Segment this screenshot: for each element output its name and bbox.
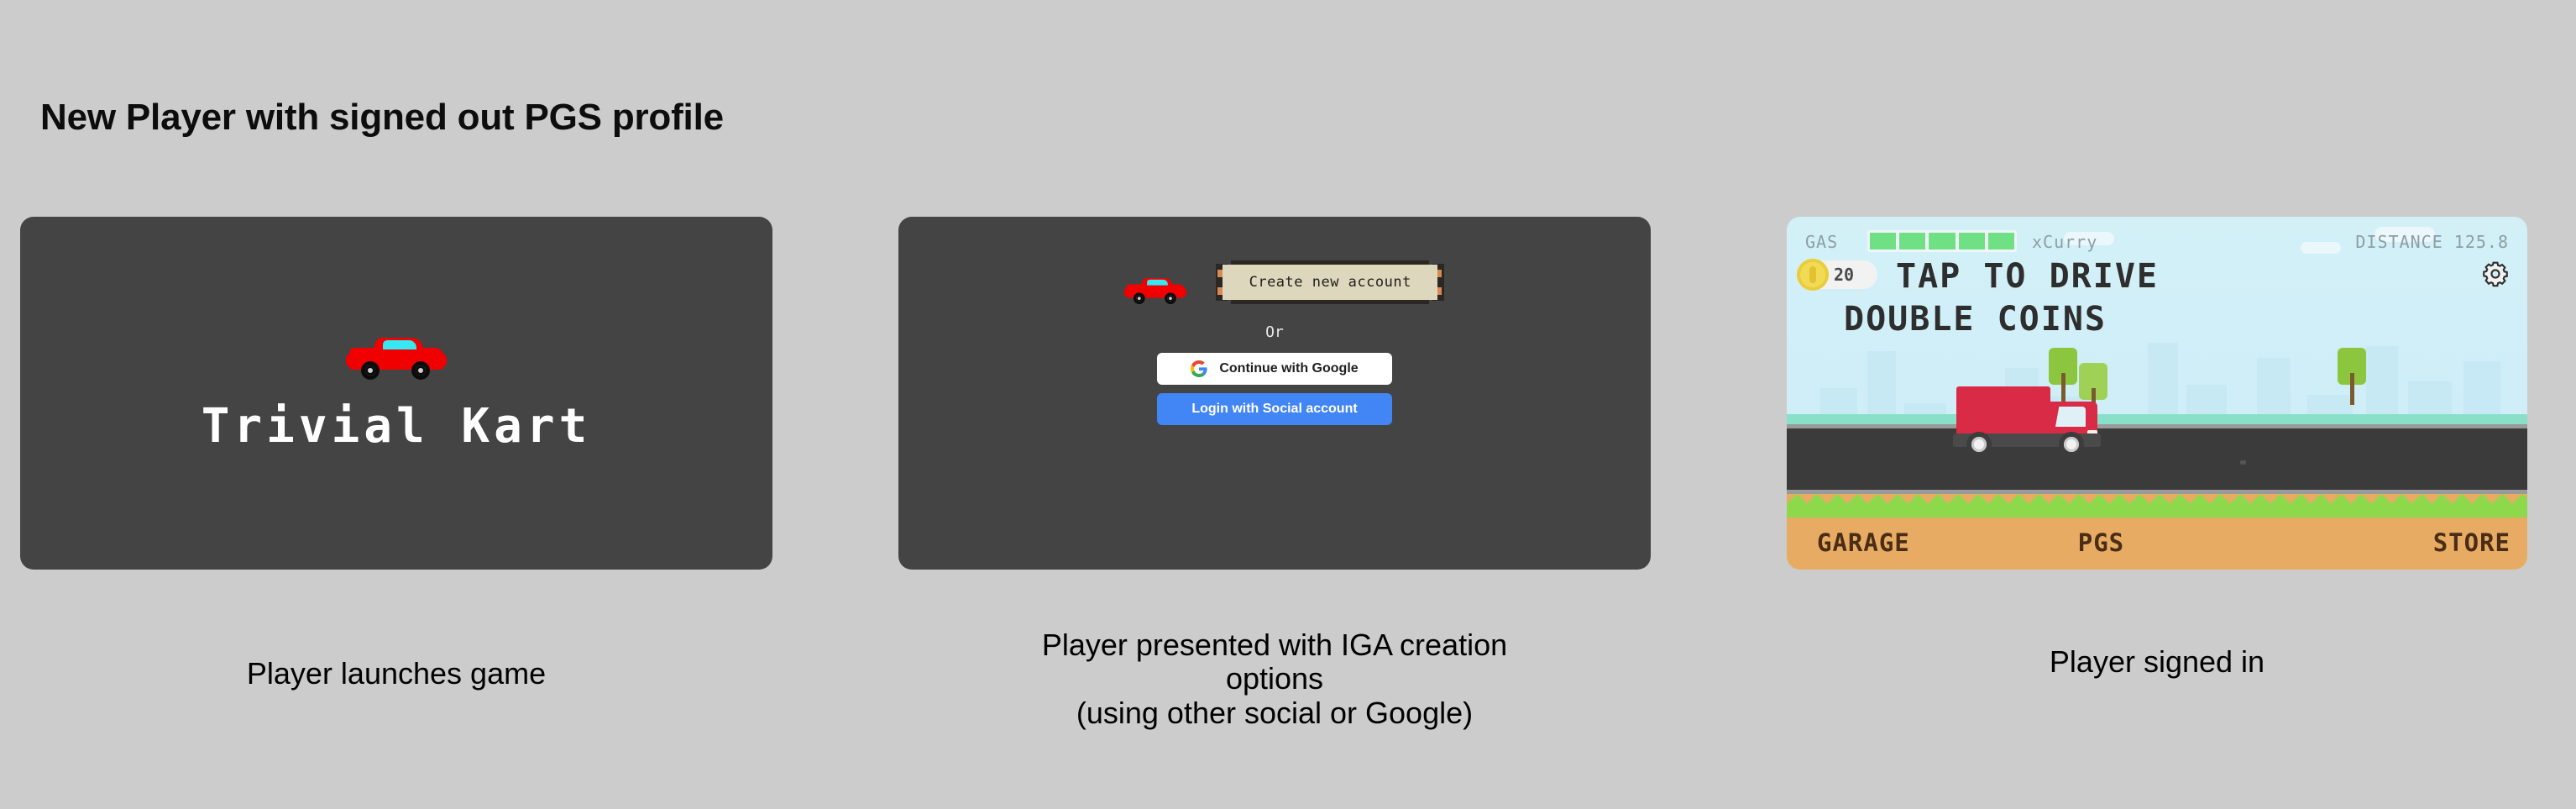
google-g-icon: [1191, 360, 1207, 377]
page-title: New Player with signed out PGS profile: [40, 97, 724, 139]
red-kart-car-icon: [1122, 275, 1188, 304]
login-with-social-account-label: Login with Social account: [1191, 402, 1357, 417]
coin-count: 20: [1834, 265, 1854, 285]
caption-panel-2-line-2: options: [898, 662, 1651, 696]
tree: [2338, 348, 2366, 385]
red-kart-car-icon: [343, 333, 450, 380]
tap-to-drive-line-2: DOUBLE COINS: [1844, 298, 2159, 341]
nav-item-garage[interactable]: GARAGE: [1817, 528, 1910, 557]
gear-icon[interactable]: [2482, 260, 2509, 287]
sign-face: Create new account: [1223, 265, 1437, 300]
tap-to-drive-line-1: TAP TO DRIVE: [1896, 255, 2159, 298]
distance-readout: DISTANCE 125.8: [2355, 232, 2509, 252]
player-username: xCurry: [2032, 232, 2097, 252]
iga-content: Create new account Or Continue with Goog…: [898, 247, 1651, 433]
tree: [2049, 348, 2077, 385]
grass-zigzag-edge: [1787, 494, 2527, 512]
panel-iga-creation: Create new account Or Continue with Goog…: [898, 217, 1651, 570]
caption-panel-1: Player launches game: [20, 657, 772, 691]
caption-panel-3: Player signed in: [1787, 645, 2527, 679]
or-separator-label: Or: [898, 323, 1651, 341]
grass-band: GARAGE PGS STORE: [1787, 494, 2527, 570]
player-truck-sprite: [1951, 383, 2111, 455]
caption-panel-2-line-3: (using other social or Google): [898, 696, 1651, 730]
continue-with-google-label: Continue with Google: [1219, 361, 1358, 376]
bottom-navigation: GARAGE PGS STORE: [1787, 523, 2527, 563]
gas-meter: [1867, 230, 2017, 252]
nav-item-store[interactable]: STORE: [2433, 528, 2511, 557]
nav-item-pgs[interactable]: PGS: [2078, 528, 2124, 557]
panel-splash-screen: Trivial Kart: [20, 217, 772, 570]
cloud: [2301, 242, 2341, 254]
coin-balance-badge: 20: [1800, 260, 1877, 289]
road-marking: [2240, 460, 2246, 465]
caption-panel-2: Player presented with IGA creation optio…: [898, 628, 1651, 730]
create-new-account-button[interactable]: Create new account: [1212, 260, 1448, 304]
caption-panel-2-line-1: Player presented with IGA creation: [898, 628, 1651, 662]
horizon-strip: [1787, 414, 2527, 424]
gas-label: GAS: [1805, 232, 1838, 252]
create-new-account-label: Create new account: [1249, 274, 1411, 291]
tap-to-drive-prompt: TAP TO DRIVE DOUBLE COINS: [1896, 255, 2159, 341]
login-with-social-account-button[interactable]: Login with Social account: [1157, 393, 1392, 425]
road: [1787, 424, 2527, 494]
panel-gameplay: GARAGE PGS STORE GAS xCurry DISTANCE 125…: [1787, 217, 2527, 570]
splash-content: Trivial Kart: [20, 333, 772, 454]
diagram-canvas: New Player with signed out PGS profile T…: [0, 0, 2576, 809]
coin-icon: [1797, 259, 1829, 291]
continue-with-google-button[interactable]: Continue with Google: [1157, 353, 1392, 385]
game-title: Trivial Kart: [20, 399, 772, 454]
